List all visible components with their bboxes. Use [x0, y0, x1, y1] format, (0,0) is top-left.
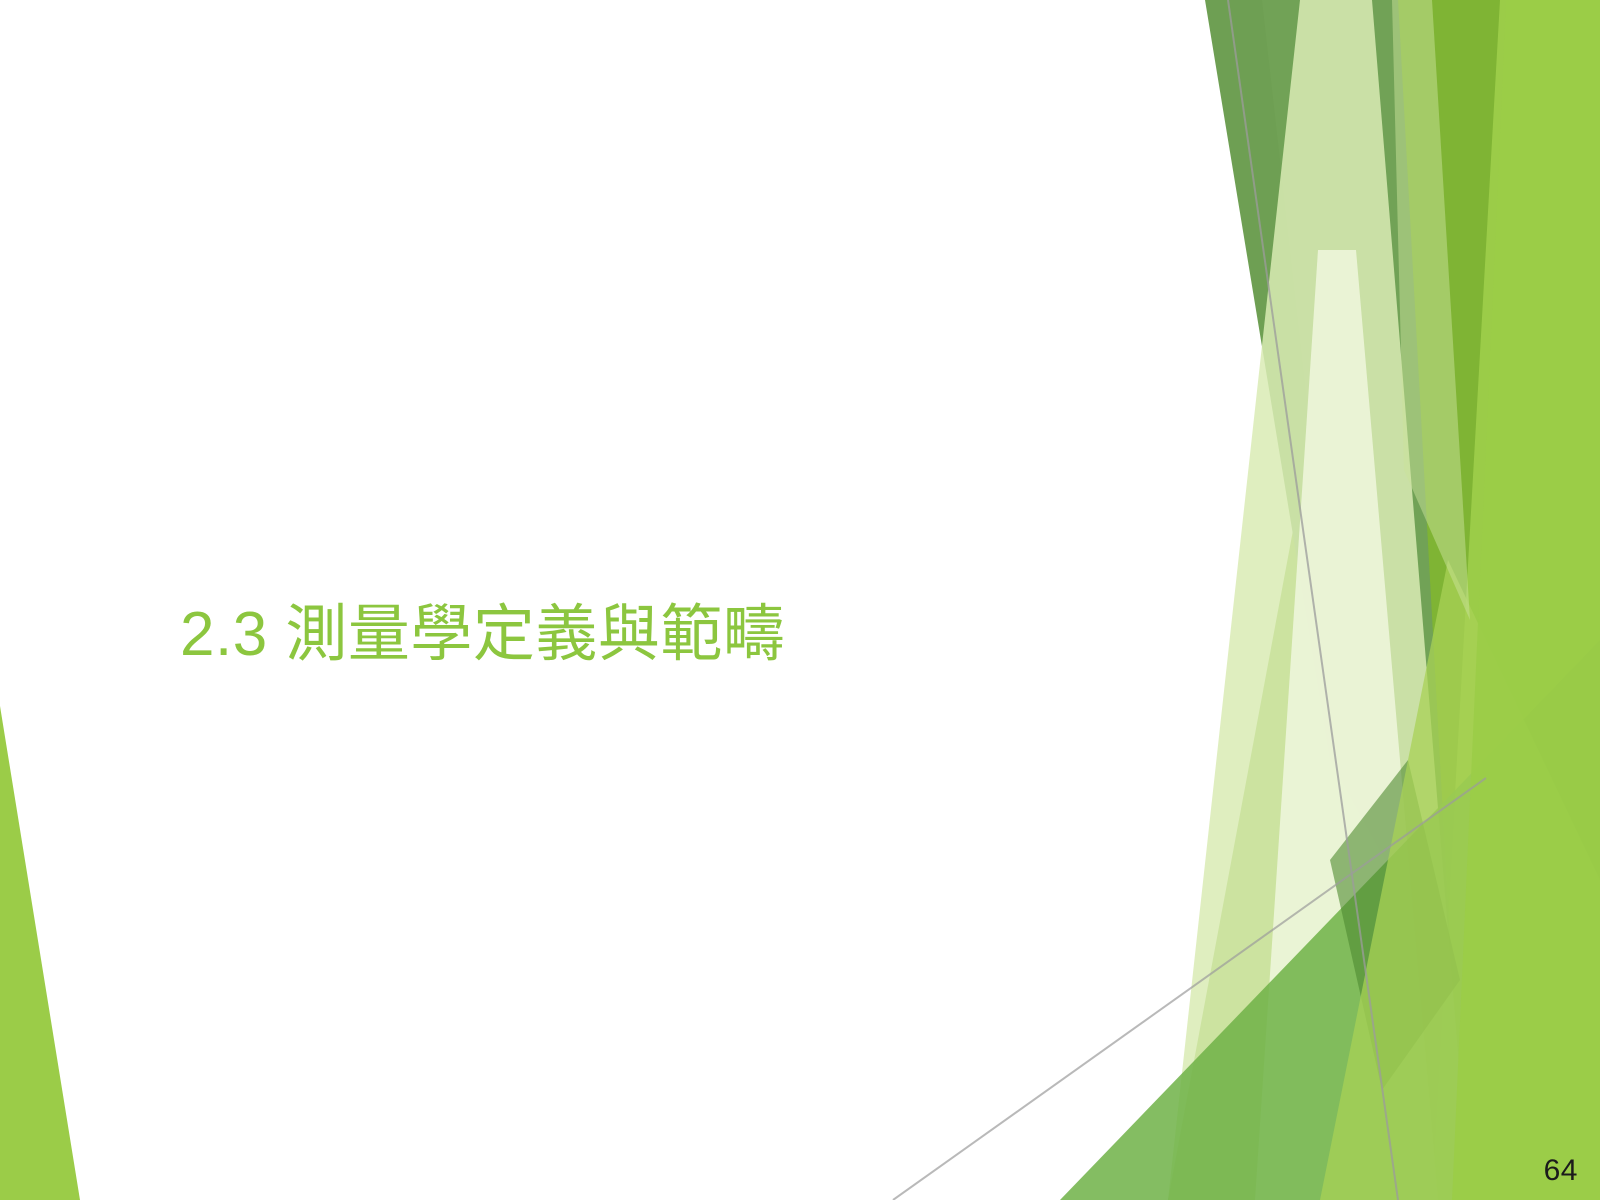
left-green-triangle: [0, 706, 80, 1200]
overlay-upper-pale-facet: [1392, 0, 1470, 620]
right-wedge-olive-mid: [1262, 0, 1452, 980]
page-title: 2.3 測量學定義與範疇: [180, 598, 1180, 671]
overlay-light-triangle: [1320, 560, 1600, 1200]
right-band-light: [1418, 0, 1600, 1200]
hairline-shallow: [893, 778, 1486, 1200]
hairline-steep: [1228, 0, 1398, 1200]
right-band-bright: [1168, 0, 1500, 1200]
overlay-palest-sliver: [1255, 250, 1438, 1200]
slide-canvas: 2.3 測量學定義與範疇 64: [0, 0, 1600, 1200]
right-wedge-olive-dark: [1205, 0, 1452, 980]
overlay-pale-wedge: [1168, 0, 1470, 1200]
overlay-deep-green-facet: [1330, 760, 1460, 1090]
overlay-mid-green-sweep: [1060, 640, 1600, 1200]
overlay-right-column: [1452, 0, 1600, 1200]
slide-page-number: 64: [1544, 1154, 1578, 1188]
